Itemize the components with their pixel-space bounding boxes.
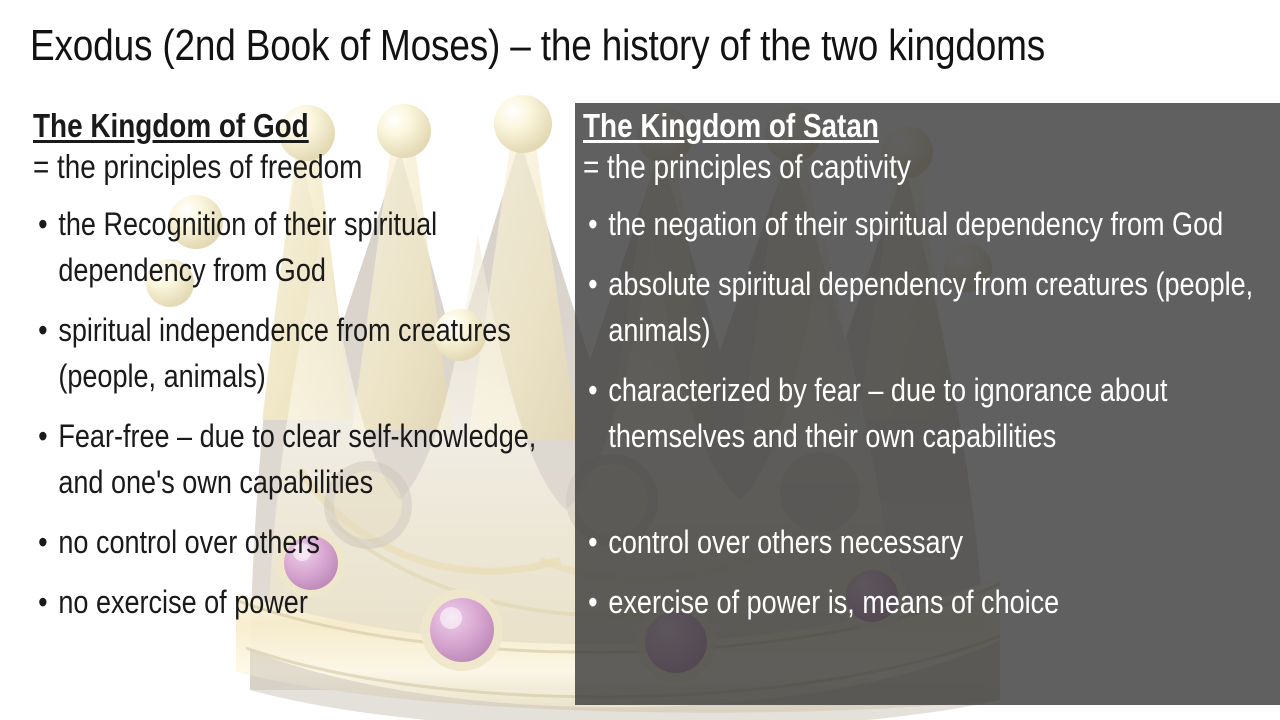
bullet-marker-icon: • (38, 413, 47, 459)
list-item-text: exercise of power is, means of choice (608, 584, 1059, 620)
bullet-marker-icon: • (588, 519, 597, 565)
list-item-text: the negation of their spiritual dependen… (608, 206, 1223, 242)
list-item: • absolute spiritual dependency from cre… (583, 261, 1280, 353)
right-column-subheading: = the principles of captivity (583, 146, 1280, 187)
list-item-text: Fear-free – due to clear self-knowledge,… (58, 418, 536, 500)
left-column-subheading: = the principles of freedom (33, 146, 582, 187)
left-column-bullet-list: • the Recognition of their spiritual dep… (33, 201, 582, 625)
list-item: • no exercise of power (33, 579, 565, 625)
left-column-heading: The Kingdom of God (33, 106, 582, 146)
list-item: • no control over others (33, 519, 565, 565)
kingdom-of-satan-column: The Kingdom of Satan = the principles of… (583, 106, 1280, 625)
list-item-text: no control over others (58, 524, 320, 560)
bullet-marker-icon: • (588, 261, 597, 307)
right-column-heading: The Kingdom of Satan (583, 106, 1280, 146)
list-item-text: the Recognition of their spiritual depen… (58, 206, 437, 288)
list-item: • exercise of power is, means of choice (583, 579, 1280, 625)
bullet-marker-icon: • (38, 307, 47, 353)
right-column-bullet-list: • the negation of their spiritual depend… (583, 201, 1280, 625)
bullet-marker-icon: • (38, 519, 47, 565)
page-title: Exodus (2nd Book of Moses) – the history… (30, 20, 1055, 72)
list-item: • the negation of their spiritual depend… (583, 201, 1280, 247)
list-item: • control over others necessary (583, 519, 1280, 565)
bullet-marker-icon: • (588, 579, 597, 625)
list-item-text: absolute spiritual dependency from creat… (608, 266, 1253, 348)
list-item: • characterized by fear – due to ignoran… (583, 367, 1280, 459)
list-item-text: control over others necessary (608, 524, 963, 560)
bullet-marker-icon: • (588, 201, 597, 247)
list-item-text: no exercise of power (58, 584, 307, 620)
bullet-marker-icon: • (588, 367, 597, 413)
list-item: • spiritual independence from creatures … (33, 307, 565, 399)
list-item-text: characterized by fear – due to ignorance… (608, 372, 1167, 454)
list-item-text: spiritual independence from creatures (p… (58, 312, 510, 394)
bullet-marker-icon: • (38, 579, 47, 625)
slide: Exodus (2nd Book of Moses) – the history… (0, 0, 1280, 720)
bullet-marker-icon: • (38, 201, 47, 247)
list-item: • Fear-free – due to clear self-knowledg… (33, 413, 565, 505)
list-item: • the Recognition of their spiritual dep… (33, 201, 565, 293)
